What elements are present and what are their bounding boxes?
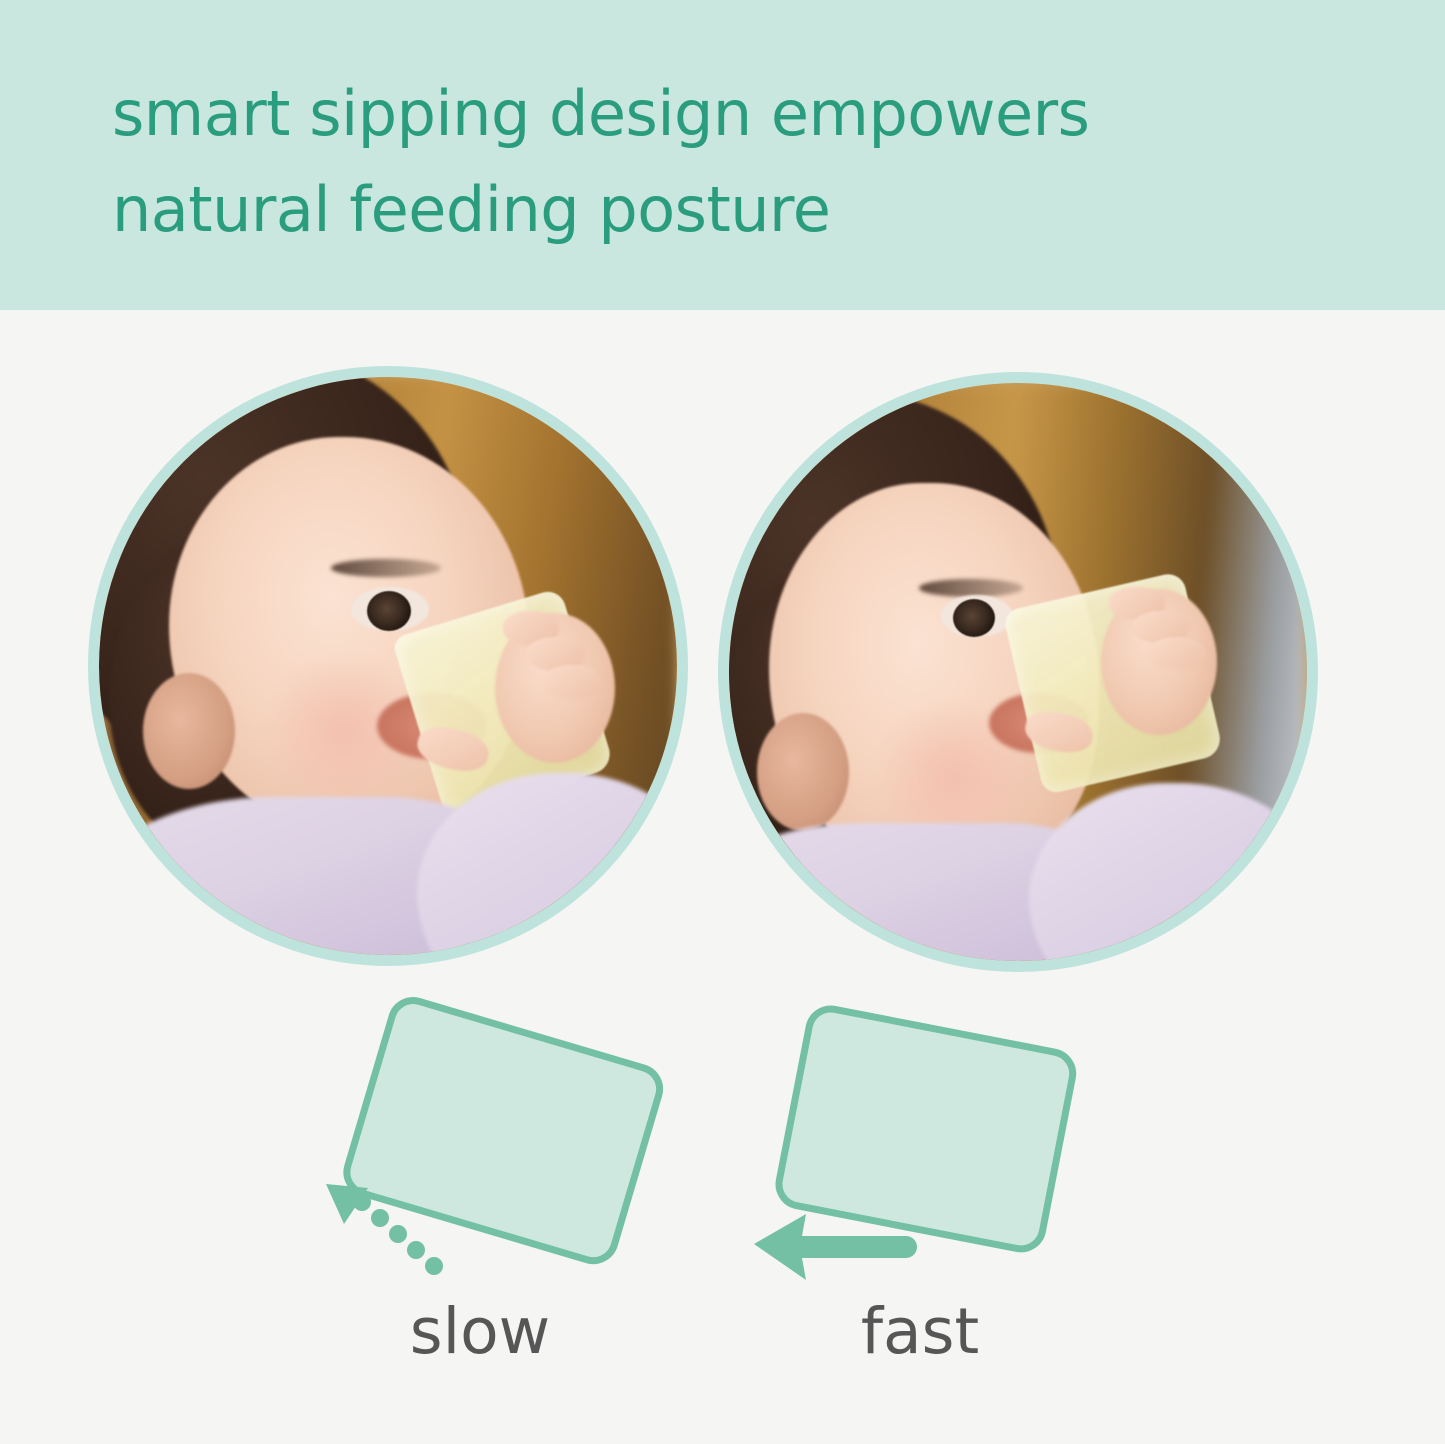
bottle-shape-slow <box>342 995 665 1266</box>
infographic-page: smart sipping design empowers natural fe… <box>0 0 1445 1444</box>
photo-circle-fast <box>718 372 1318 972</box>
baby-finger <box>1149 637 1205 669</box>
page-title: smart sipping design empowers natural fe… <box>112 66 1372 258</box>
photo-image-fast <box>729 383 1307 961</box>
baby-finger <box>543 665 601 699</box>
baby-eye <box>953 599 995 637</box>
header-band: smart sipping design empowers natural fe… <box>0 0 1445 310</box>
diagram-label-fast: fast <box>740 1295 1100 1368</box>
diagram-area <box>0 988 1445 1444</box>
diagram-fast <box>740 998 1100 1288</box>
baby-eye <box>367 591 411 631</box>
diagram-label-slow: slow <box>280 1295 680 1368</box>
baby-eyebrow <box>331 559 441 577</box>
photo-image-slow <box>99 377 677 955</box>
photo-circle-slow <box>88 366 688 966</box>
baby-ear <box>757 713 849 831</box>
baby-ear <box>143 673 235 789</box>
photo-row <box>0 366 1445 972</box>
bottle-shape-fast <box>775 1005 1076 1252</box>
diagram-slow <box>300 988 700 1288</box>
